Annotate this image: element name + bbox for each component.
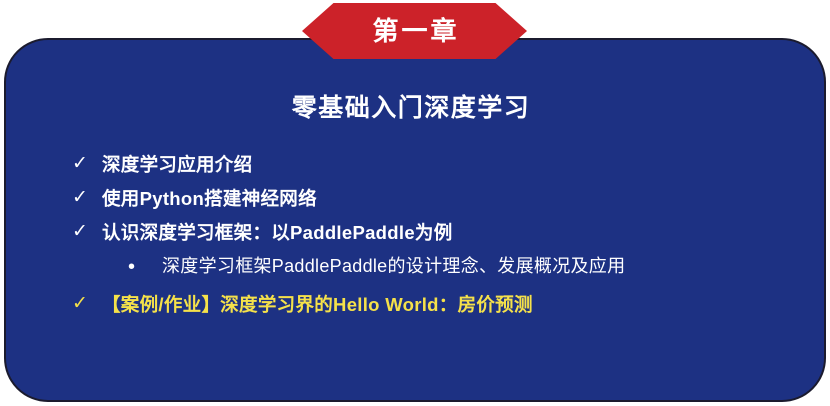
check-icon: ✓ xyxy=(72,186,102,210)
list-item: ✓ 认识深度学习框架：以PaddlePaddle为例 xyxy=(72,220,802,245)
check-icon: ✓ xyxy=(72,292,102,316)
check-icon: ✓ xyxy=(72,220,102,244)
slide-canvas: 第一章 零基础入门深度学习 ✓ 深度学习应用介绍 ✓ 使用Python搭建神经网… xyxy=(0,0,830,406)
check-icon: ✓ xyxy=(72,152,102,176)
list-item-label: 使用Python搭建神经网络 xyxy=(102,186,802,211)
list-item-label: 深度学习应用介绍 xyxy=(102,152,802,177)
page-title: 零基础入门深度学习 xyxy=(0,88,822,124)
list-item-label: 认识深度学习框架：以PaddlePaddle为例 xyxy=(102,220,802,245)
list-item: ✓ 使用Python搭建神经网络 xyxy=(72,186,802,211)
dot-bullet-icon: • xyxy=(128,254,162,280)
chapter-banner: 第一章 xyxy=(302,3,527,59)
sub-list-item: • 深度学习框架PaddlePaddle的设计理念、发展概况及应用 xyxy=(72,254,802,280)
list-item-label: 【案例/作业】深度学习界的Hello World：房价预测 xyxy=(102,292,802,317)
chapter-banner-label: 第一章 xyxy=(369,18,459,44)
list-item: ✓ 深度学习应用介绍 xyxy=(72,152,802,177)
list-item-highlighted: ✓ 【案例/作业】深度学习界的Hello World：房价预测 xyxy=(72,292,802,317)
sub-list-item-label: 深度学习框架PaddlePaddle的设计理念、发展概况及应用 xyxy=(162,254,802,279)
bullet-list: ✓ 深度学习应用介绍 ✓ 使用Python搭建神经网络 ✓ 认识深度学习框架：以… xyxy=(72,152,802,326)
